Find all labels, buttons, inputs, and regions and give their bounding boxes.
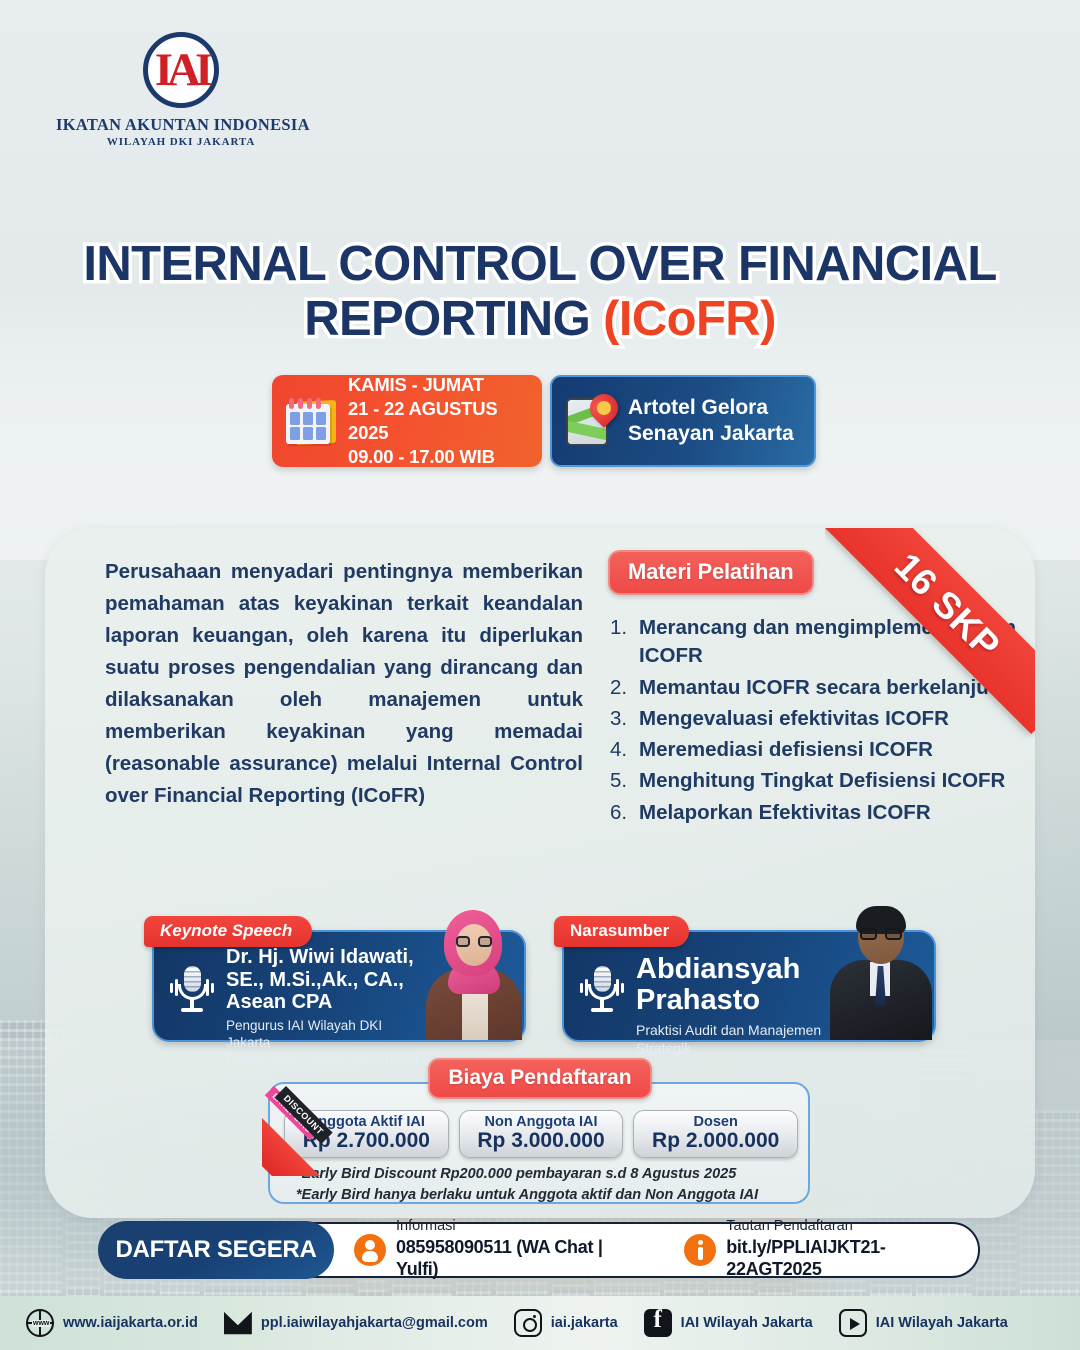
register-button[interactable]: DAFTAR SEGERA [98, 1221, 334, 1279]
website-label[interactable]: www.iaijakarta.or.id [63, 1315, 198, 1331]
registration-link[interactable]: Tautan Pendaftaran bit.ly/PPLIAIJKT21-22… [684, 1219, 978, 1280]
calendar-icon [284, 396, 336, 446]
mail-icon [224, 1309, 252, 1337]
materi-heading: Materi Pelatihan [608, 550, 814, 595]
date-time: 09.00 - 17.00 WIB [348, 445, 542, 469]
event-description: Perusahaan menyadari pentingnya memberik… [105, 556, 583, 812]
date-day: KAMIS - JUMAT [348, 373, 542, 397]
fee-label: Dosen [694, 1115, 738, 1130]
early-bird-badge: EARLY BIRD DISCOUNT [262, 1072, 374, 1176]
footer-bar: www www.iaijakarta.or.id ppl.iaiwilayahj… [0, 1296, 1080, 1350]
instagram-label[interactable]: iai.jakarta [551, 1315, 618, 1331]
facebook-label[interactable]: IAI Wilayah Jakarta [681, 1315, 813, 1331]
footer-youtube[interactable]: IAI Wilayah Jakarta [839, 1309, 1008, 1337]
info-icon [684, 1234, 716, 1266]
poster-root: IAI IKATAN AKUNTAN INDONESIA WILAYAH DKI… [0, 0, 1080, 1350]
fee-note: *Early Bird hanya berlaku untuk Anggota … [296, 1185, 758, 1206]
speaker-tag: Narasumber [554, 916, 689, 947]
title-line-1: INTERNAL CONTROL OVER FINANCIAL [0, 238, 1080, 291]
title-line-2: REPORTING (ICoFR) [0, 293, 1080, 346]
title-acronym: (ICoFR) [603, 292, 776, 346]
person-icon [354, 1234, 386, 1266]
microphone-icon [580, 966, 624, 1014]
speaker-card-narasumber: Narasumber Abdiansyah Prahasto Praktisi … [562, 930, 936, 1042]
list-item: Menghitung Tingkat Defisiensi ICOFR [608, 767, 1028, 795]
venue-banner: Artotel Gelora Senayan Jakarta [550, 375, 816, 467]
facebook-icon [644, 1309, 672, 1337]
iai-logo: IAI IKATAN AKUNTAN INDONESIA WILAYAH DKI… [56, 32, 306, 148]
map-pin-icon [566, 394, 616, 448]
footer-facebook[interactable]: IAI Wilayah Jakarta [644, 1309, 813, 1337]
skp-label: 16 SKP [886, 545, 1008, 667]
email-label[interactable]: ppl.iaiwilayahjakarta@gmail.com [261, 1315, 488, 1331]
footer-website[interactable]: www www.iaijakarta.or.id [26, 1309, 198, 1337]
date-full: 21 - 22 AGUSTUS 2025 [348, 397, 542, 445]
venue-line-1: Artotel Gelora [628, 395, 794, 421]
fee-heading-wrap: Biaya Pendaftaran [0, 1058, 1080, 1099]
fee-item-dosen: Dosen Rp 2.000.000 [633, 1110, 798, 1158]
list-item: Meremediasi defisiensi ICOFR [608, 736, 1028, 764]
org-region: WILAYAH DKI JAKARTA [56, 136, 306, 148]
speaker-name: Dr. Hj. Wiwi Idawati, SE., M.Si.,Ak., CA… [226, 946, 420, 1014]
event-info-banners: KAMIS - JUMAT 21 - 22 AGUSTUS 2025 09.00… [272, 375, 816, 467]
venue-line-2: Senayan Jakarta [628, 421, 794, 447]
speaker-name: Abdiansyah Prahasto [636, 954, 830, 1015]
discount-tag: DISCOUNT [275, 1086, 333, 1144]
date-text: KAMIS - JUMAT 21 - 22 AGUSTUS 2025 09.00… [348, 373, 542, 469]
speaker-photo [418, 898, 522, 1040]
iai-logo-monogram: IAI [155, 47, 208, 94]
footer-instagram[interactable]: iai.jakarta [514, 1309, 618, 1337]
date-banner: KAMIS - JUMAT 21 - 22 AGUSTUS 2025 09.00… [272, 375, 542, 467]
microphone-icon [170, 966, 214, 1014]
globe-www-label: www [32, 1320, 50, 1327]
list-item: Melaporkan Efektivitas ICOFR [608, 799, 1028, 827]
link-title: Tautan Pendaftaran [726, 1219, 978, 1235]
instagram-icon [514, 1309, 542, 1337]
footer-email[interactable]: ppl.iaiwilayahjakarta@gmail.com [224, 1309, 488, 1337]
contact-info[interactable]: Informasi 085958090511 (WA Chat | Yulfi) [354, 1219, 646, 1280]
registration-bar: DAFTAR SEGERA Informasi 085958090511 (WA… [100, 1222, 980, 1278]
fee-heading: Biaya Pendaftaran [428, 1058, 651, 1099]
fee-item-non-anggota: Non Anggota IAI Rp 3.000.000 [459, 1110, 624, 1158]
youtube-icon [839, 1309, 867, 1337]
fee-price: Rp 3.000.000 [477, 1130, 604, 1153]
speaker-card-keynote: Keynote Speech Dr. Hj. Wiwi Idawati, SE.… [152, 930, 526, 1042]
skp-ribbon: 16 SKP [825, 528, 1035, 738]
org-name: IKATAN AKUNTAN INDONESIA [56, 115, 306, 135]
youtube-label[interactable]: IAI Wilayah Jakarta [876, 1315, 1008, 1331]
iai-logo-emblem: IAI [143, 32, 219, 108]
fee-label: Non Anggota IAI [484, 1115, 597, 1130]
venue-text: Artotel Gelora Senayan Jakarta [628, 395, 794, 448]
info-title: Informasi [396, 1219, 646, 1235]
speaker-role: Praktisi Audit dan Manajemen Strategik [636, 1022, 830, 1057]
speaker-photo [828, 898, 932, 1040]
info-value[interactable]: 085958090511 (WA Chat | Yulfi) [396, 1237, 646, 1280]
globe-icon: www [26, 1309, 54, 1337]
page-title: INTERNAL CONTROL OVER FINANCIAL REPORTIN… [0, 238, 1080, 347]
title-line-2-main: REPORTING [304, 292, 603, 346]
speaker-tag: Keynote Speech [144, 916, 312, 947]
link-value[interactable]: bit.ly/PPLIAIJKT21-22AGT2025 [726, 1237, 978, 1280]
fee-price: Rp 2.000.000 [652, 1130, 779, 1153]
